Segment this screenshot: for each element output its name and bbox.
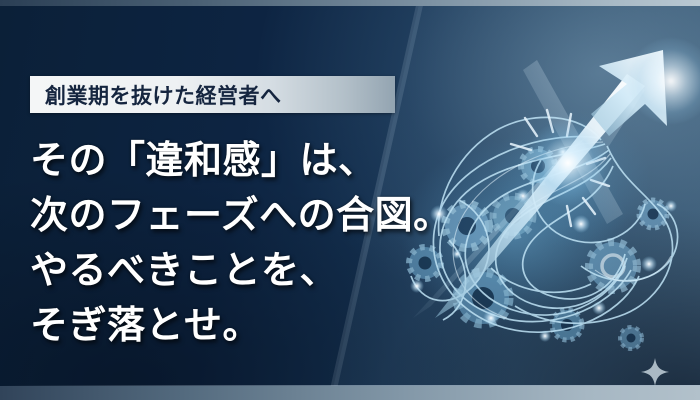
headline-line-2: 次のフェーズへの合図。 bbox=[30, 189, 460, 244]
eyebrow-badge: 創業期を抜けた経営者へ bbox=[30, 76, 395, 113]
top-accent-rail bbox=[0, 0, 700, 6]
headline-line-1: その「違和感」は、 bbox=[30, 134, 460, 189]
headline-line-4: そぎ落とせ。 bbox=[30, 299, 460, 354]
headline-block: その「違和感」は、 次のフェーズへの合図。 やるべきことを、 そぎ落とせ。 bbox=[30, 134, 460, 354]
eyebrow-badge-label: 創業期を抜けた経営者へ bbox=[30, 80, 282, 110]
arrow-center-glow bbox=[525, 120, 611, 206]
four-point-star-icon bbox=[641, 358, 669, 386]
headline-line-3: やるべきことを、 bbox=[30, 244, 460, 299]
bottom-accent-rail bbox=[0, 386, 700, 400]
promo-banner: 創業期を抜けた経営者へ その「違和感」は、 次のフェーズへの合図。 やるべきこと… bbox=[0, 0, 700, 400]
